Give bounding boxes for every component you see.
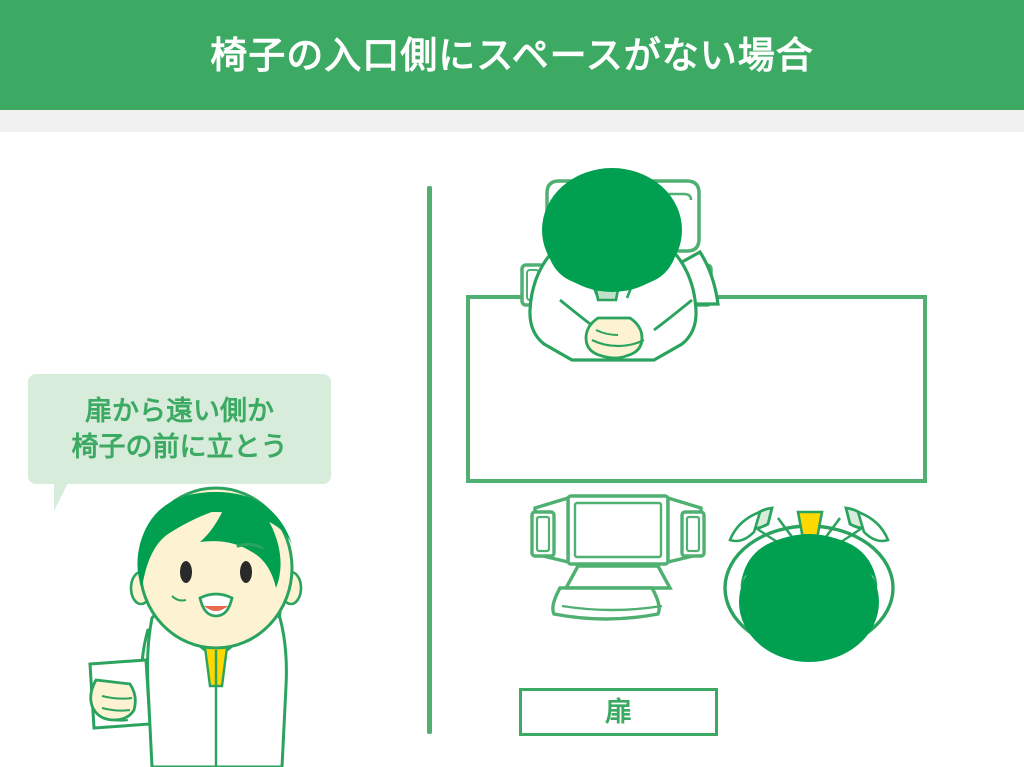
- hair: [137, 492, 280, 588]
- eye-right: [240, 561, 252, 583]
- desk-surface: [468, 297, 925, 481]
- office-chair: [522, 181, 711, 305]
- vertical-divider: [427, 186, 432, 734]
- door-label: 扉: [605, 699, 632, 726]
- visitor-person-top-view: [725, 508, 893, 662]
- computer-monitor: [532, 496, 704, 619]
- eye-left: [180, 561, 192, 583]
- mouth: [200, 594, 232, 616]
- head-hair: [739, 542, 879, 662]
- presenter-character: [90, 488, 301, 767]
- slide-canvas: 椅子の入口側にスペースがない場合: [0, 0, 1024, 767]
- speech-bubble-line-1: 扉から遠い側か: [85, 393, 274, 429]
- speech-bubble: 扉から遠い側か 椅子の前に立とう: [28, 374, 331, 484]
- seated-person-top-view: [530, 168, 718, 360]
- pointer-stick: [246, 522, 264, 586]
- page-title: 椅子の入口側にスペースがない場合: [210, 37, 814, 74]
- door-box: 扉: [519, 688, 718, 736]
- header-band: 椅子の入口側にスペースがない場合: [0, 0, 1024, 110]
- tie: [202, 612, 230, 686]
- speech-bubble-tail: [54, 483, 98, 511]
- header-gap-strip: [0, 110, 1024, 132]
- head-hair: [542, 168, 682, 292]
- speech-bubble-line-2: 椅子の前に立とう: [72, 429, 288, 465]
